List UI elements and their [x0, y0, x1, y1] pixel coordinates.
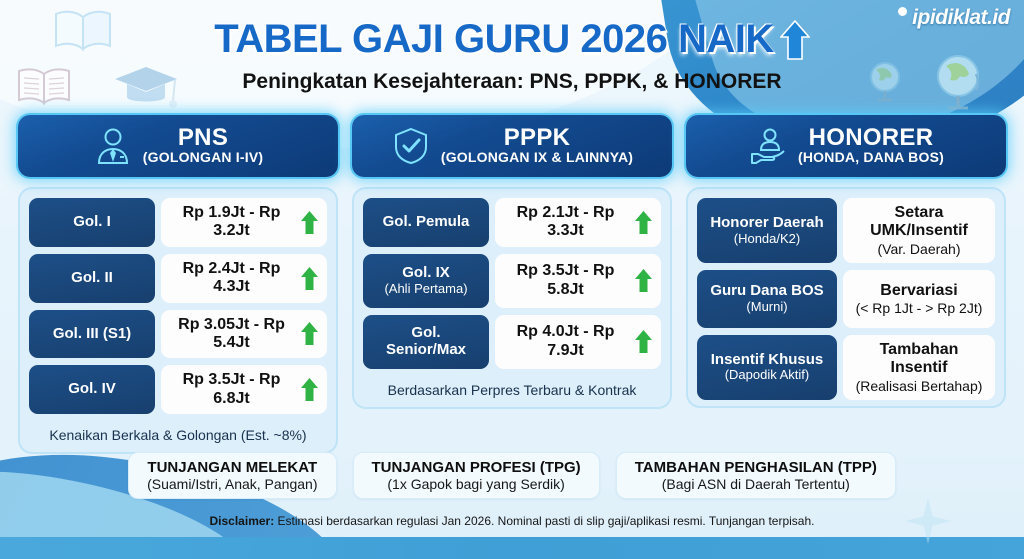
- brand-logo[interactable]: ipidiklat.id: [898, 6, 1010, 30]
- hand-person-icon: [748, 126, 788, 166]
- row-value-text: Rp 2.1Jt - Rp 3.3Jt: [503, 204, 628, 241]
- benefit-title: TAMBAHAN PENGHASILAN (TPP): [635, 459, 877, 476]
- column-title: PNS: [178, 124, 228, 151]
- disclaimer-label: Disclaimer:: [210, 514, 275, 528]
- row-label-subtext: Senior/Max: [386, 342, 466, 359]
- brand-name: ipidiklat.id: [912, 6, 1010, 30]
- row-value-main: Tambahan Insentif: [880, 341, 959, 376]
- column-header-honorer: HONORER (HONDA, DANA BOS): [686, 115, 1006, 177]
- arrow-up-icon: [300, 321, 319, 346]
- column-note: Kenaikan Berkala & Golongan (Est. ~8%): [29, 425, 327, 446]
- page-subtitle: Peningkatan Kesejahteraan: PNS, PPPK, & …: [0, 70, 1024, 94]
- page-title: TABEL GAJI GURU 2026 NAIK: [214, 17, 809, 62]
- row-value-main: Bervariasi: [880, 282, 957, 299]
- row-label-text: Gol. III (S1): [53, 326, 131, 343]
- table-row: Gol. Senior/Max Rp 4.0Jt - Rp 7.9Jt: [363, 315, 661, 369]
- benefits-row: TUNJANGAN MELEKAT (Suami/Istri, Anak, Pa…: [0, 452, 1024, 499]
- row-label-subtext: (Dapodik Aktif): [725, 368, 810, 382]
- row-value: Rp 2.1Jt - Rp 3.3Jt: [495, 198, 661, 247]
- row-label: Gol. III (S1): [29, 310, 155, 359]
- column-subtitle: (GOLONGAN IX & LAINNYA): [441, 149, 633, 165]
- arrow-up-icon: [634, 210, 653, 235]
- column-header-pppk: PPPK (GOLONGAN IX & LAINNYA): [352, 115, 672, 177]
- disclaimer: Disclaimer: Estimasi berdasarkan regulas…: [0, 514, 1024, 528]
- table-row: Gol. Pemula Rp 2.1Jt - Rp 3.3Jt: [363, 198, 661, 247]
- column-note: Berdasarkan Perpres Terbaru & Kontrak: [363, 380, 661, 401]
- row-value: Rp 2.4Jt - Rp 4.3Jt: [161, 254, 327, 303]
- column-body-pppk: Gol. Pemula Rp 2.1Jt - Rp 3.3Jt Gol. IX …: [352, 187, 672, 409]
- benefit-title: TUNJANGAN PROFESI (TPG): [372, 459, 581, 476]
- row-value-text: Rp 3.5Jt - Rp 5.8Jt: [503, 262, 628, 299]
- row-label-text: Gol. I: [73, 214, 111, 231]
- row-label: Gol. Senior/Max: [363, 315, 489, 369]
- column-title: HONORER: [809, 124, 934, 151]
- row-label: Honorer Daerah (Honda/K2): [697, 198, 837, 263]
- arrow-up-icon: [634, 268, 653, 293]
- page-title-text: TABEL GAJI GURU 2026 NAIK: [214, 17, 773, 62]
- table-row: Gol. II Rp 2.4Jt - Rp 4.3Jt: [29, 254, 327, 303]
- row-value: Rp 3.5Jt - Rp 6.8Jt: [161, 365, 327, 414]
- row-label-text: Insentif Khusus: [711, 352, 824, 369]
- row-value-main: Setara UMK/Insentif: [870, 204, 968, 239]
- table-row: Guru Dana BOS (Murni) Bervariasi (< Rp 1…: [697, 270, 995, 328]
- table-row: Insentif Khusus (Dapodik Aktif) Tambahan…: [697, 335, 995, 400]
- row-label: Insentif Khusus (Dapodik Aktif): [697, 335, 837, 400]
- column-body-honorer: Honorer Daerah (Honda/K2) Setara UMK/Ins…: [686, 187, 1006, 408]
- table-row: Gol. IX (Ahli Pertama) Rp 3.5Jt - Rp 5.8…: [363, 254, 661, 308]
- row-label-text: Guru Dana BOS: [710, 283, 823, 300]
- row-label-text: Gol. IV: [68, 381, 116, 398]
- row-value-text: Bervariasi (< Rp 1Jt - > Rp 2Jt): [851, 282, 987, 316]
- arrow-up-icon: [634, 329, 653, 354]
- column-honorer: HONORER (HONDA, DANA BOS) Honorer Daerah…: [686, 115, 1006, 454]
- row-value-text: Rp 3.05Jt - Rp 5.4Jt: [169, 316, 294, 353]
- table-row: Honorer Daerah (Honda/K2) Setara UMK/Ins…: [697, 198, 995, 263]
- header-block: TABEL GAJI GURU 2026 NAIK Peningkatan Ke…: [0, 0, 1024, 94]
- column-title: PPPK: [504, 124, 571, 151]
- benefit-subtitle: (Suami/Istri, Anak, Pangan): [147, 476, 317, 492]
- row-value: Rp 3.05Jt - Rp 5.4Jt: [161, 310, 327, 359]
- disclaimer-text: Estimasi berdasarkan regulasi Jan 2026. …: [274, 514, 814, 528]
- arrow-up-icon: [300, 377, 319, 402]
- arrow-up-icon: [780, 20, 810, 60]
- dot-i-logo-icon: [898, 7, 907, 16]
- row-label: Gol. IV: [29, 365, 155, 414]
- row-value-subtext: (< Rp 1Jt - > Rp 2Jt): [851, 300, 987, 316]
- benefit-title: TUNJANGAN MELEKAT: [147, 459, 317, 476]
- row-label: Gol. Pemula: [363, 198, 489, 247]
- arrow-up-icon: [300, 266, 319, 291]
- row-value: Bervariasi (< Rp 1Jt - > Rp 2Jt): [843, 270, 995, 328]
- benefit-subtitle: (1x Gapok bagi yang Serdik): [372, 476, 581, 492]
- row-label-text: Gol.: [411, 325, 440, 342]
- salary-columns: PNS (GOLONGAN I-IV) Gol. I Rp 1.9Jt - Rp…: [0, 115, 1024, 454]
- row-label-subtext: (Murni): [746, 300, 787, 314]
- background-bottom-bar: [0, 537, 1024, 559]
- benefit-card: TUNJANGAN MELEKAT (Suami/Istri, Anak, Pa…: [128, 452, 336, 499]
- row-label: Gol. I: [29, 198, 155, 247]
- user-tie-icon: [93, 126, 133, 166]
- row-value-subtext: (Var. Daerah): [851, 241, 987, 257]
- benefit-subtitle: (Bagi ASN di Daerah Tertentu): [635, 476, 877, 492]
- column-pppk: PPPK (GOLONGAN IX & LAINNYA) Gol. Pemula…: [352, 115, 672, 454]
- row-value-text: Rp 1.9Jt - Rp 3.2Jt: [169, 204, 294, 241]
- row-value-subtext: (Realisasi Bertahap): [851, 378, 987, 394]
- infographic-canvas: ipidiklat.id TABEL GAJI GURU 2026 NAIK P…: [0, 0, 1024, 559]
- table-row: Gol. I Rp 1.9Jt - Rp 3.2Jt: [29, 198, 327, 247]
- row-label-text: Gol. IX: [402, 265, 450, 282]
- row-value-text: Rp 4.0Jt - Rp 7.9Jt: [503, 323, 628, 360]
- row-label-subtext: (Honda/K2): [734, 232, 800, 246]
- row-label-subtext: (Ahli Pertama): [384, 282, 467, 296]
- row-value-text: Rp 2.4Jt - Rp 4.3Jt: [169, 260, 294, 297]
- column-subtitle: (GOLONGAN I-IV): [143, 149, 263, 165]
- arrow-up-icon: [300, 210, 319, 235]
- shield-check-icon: [391, 126, 431, 166]
- row-label-text: Honorer Daerah: [710, 215, 823, 232]
- row-value-text: Tambahan Insentif (Realisasi Bertahap): [851, 341, 987, 394]
- row-value: Rp 3.5Jt - Rp 5.8Jt: [495, 254, 661, 308]
- column-header-pns: PNS (GOLONGAN I-IV): [18, 115, 338, 177]
- row-label: Gol. II: [29, 254, 155, 303]
- row-value: Rp 4.0Jt - Rp 7.9Jt: [495, 315, 661, 369]
- row-label: Guru Dana BOS (Murni): [697, 270, 837, 328]
- row-value-text: Setara UMK/Insentif (Var. Daerah): [851, 204, 987, 257]
- row-value: Setara UMK/Insentif (Var. Daerah): [843, 198, 995, 263]
- table-row: Gol. IV Rp 3.5Jt - Rp 6.8Jt: [29, 365, 327, 414]
- row-label-text: Gol. Pemula: [383, 214, 470, 231]
- row-value-text: Rp 3.5Jt - Rp 6.8Jt: [169, 371, 294, 408]
- row-value: Rp 1.9Jt - Rp 3.2Jt: [161, 198, 327, 247]
- column-body-pns: Gol. I Rp 1.9Jt - Rp 3.2Jt Gol. II Rp: [18, 187, 338, 454]
- column-subtitle: (HONDA, DANA BOS): [798, 149, 944, 165]
- benefit-card: TAMBAHAN PENGHASILAN (TPP) (Bagi ASN di …: [616, 452, 896, 499]
- row-label-text: Gol. II: [71, 270, 113, 287]
- table-row: Gol. III (S1) Rp 3.05Jt - Rp 5.4Jt: [29, 310, 327, 359]
- column-pns: PNS (GOLONGAN I-IV) Gol. I Rp 1.9Jt - Rp…: [18, 115, 338, 454]
- row-label: Gol. IX (Ahli Pertama): [363, 254, 489, 308]
- benefit-card: TUNJANGAN PROFESI (TPG) (1x Gapok bagi y…: [353, 452, 600, 499]
- row-value: Tambahan Insentif (Realisasi Bertahap): [843, 335, 995, 400]
